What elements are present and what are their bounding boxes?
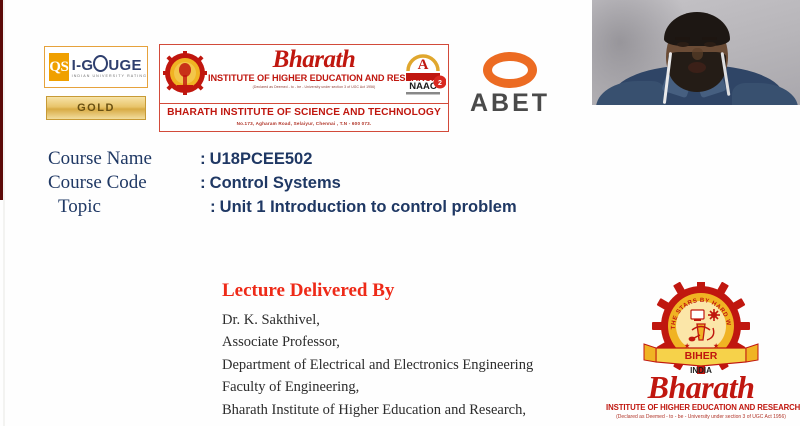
bharath-gear-seal-icon xyxy=(163,51,207,95)
seal-declared-line: (Declared as Deemed - to - be - Universi… xyxy=(606,414,796,420)
topic-label: Topic xyxy=(48,196,210,218)
qs-igauge-name: I-GUGE xyxy=(72,55,147,73)
seal-institute-line: INSTITUTE OF HIGHER EDUCATION AND RESEAR… xyxy=(606,403,796,412)
bharath-script-title: Bharath xyxy=(208,47,420,72)
presenter-mouth xyxy=(688,62,706,73)
qs-gold-ribbon: GOLD xyxy=(46,96,146,120)
course-name-label: Course Name xyxy=(48,148,200,170)
bist-address-line: No.173, Agharam Road, Selaiyur, Chennai … xyxy=(160,121,448,126)
qs-igauge-name-part1: I-G xyxy=(72,57,94,74)
abet-logo: ABET xyxy=(456,52,564,128)
qs-igauge-top: QS I-GUGE INDIAN UNIVERSITY RATING xyxy=(44,46,148,88)
svg-text:NAAC: NAAC xyxy=(409,81,437,92)
presenter-eyebrow-left xyxy=(675,37,690,40)
lecture-delivered-by-heading: Lecture Delivered By xyxy=(222,280,582,302)
course-code-colon: : xyxy=(200,173,206,193)
lecturer-block: Lecture Delivered By Dr. K. Sakthivel, A… xyxy=(222,280,582,426)
course-code-value: Control Systems xyxy=(210,174,341,193)
bist-line: BHARATH INSTITUTE OF SCIENCE AND TECHNOL… xyxy=(160,107,448,118)
qs-igauge-subtitle: INDIAN UNIVERSITY RATING xyxy=(72,75,147,79)
bharath-institute-line: INSTITUTE OF HIGHER EDUCATION AND RESEAR… xyxy=(208,73,420,83)
course-name-value: U18PCEE502 xyxy=(210,150,313,169)
accreditation-logo-band: QS I-GUGE INDIAN UNIVERSITY RATING GOLD xyxy=(44,44,564,132)
qs-igauge-oval-icon xyxy=(93,55,108,72)
presenter-nose xyxy=(692,48,703,60)
bharath-header-bottom: BHARATH INSTITUTE OF SCIENCE AND TECHNOL… xyxy=(160,104,448,126)
naac-accreditation-icon: A NAAC 2 xyxy=(400,49,446,99)
abet-ring-icon xyxy=(483,52,537,88)
bharath-declared-line: (Declared as Deemed - to - be - Universi… xyxy=(208,85,420,89)
lecturer-faculty: Faculty of Engineering, xyxy=(222,376,582,398)
bharath-header-titles: Bharath INSTITUTE OF HIGHER EDUCATION AN… xyxy=(208,47,420,89)
lecturer-city: Chennai 600073 xyxy=(222,421,582,426)
lecturer-institute: Bharath Institute of Higher Education an… xyxy=(222,399,582,421)
presentation-slide: QS I-GUGE INDIAN UNIVERSITY RATING GOLD xyxy=(0,0,800,426)
presenter-eyebrow-right xyxy=(702,37,717,40)
presenter-eye-right xyxy=(704,42,716,47)
bharath-seal-logo: TO THE STARS BY HARD WORK xyxy=(606,282,796,426)
svg-text:A: A xyxy=(418,57,429,73)
seal-script-title: Bharath xyxy=(606,372,796,402)
course-info-block: Course Name : U18PCEE502 Course Code : C… xyxy=(48,148,588,220)
left-edge-strip-secondary xyxy=(3,0,5,426)
qs-igauge-name-part2: UGE xyxy=(108,57,141,74)
bharath-header-top: Bharath INSTITUTE OF HIGHER EDUCATION AN… xyxy=(160,45,448,103)
topic-value: Unit 1 Introduction to control problem xyxy=(220,198,517,217)
svg-text:2: 2 xyxy=(438,80,442,87)
qs-badge: QS xyxy=(49,53,69,81)
course-code-label: Course Code xyxy=(48,172,200,194)
topic-colon: : xyxy=(210,197,216,217)
qs-igauge-wordmark: I-GUGE INDIAN UNIVERSITY RATING xyxy=(72,55,147,79)
course-name-colon: : xyxy=(200,149,206,169)
qs-igauge-logo: QS I-GUGE INDIAN UNIVERSITY RATING GOLD xyxy=(44,46,148,130)
svg-text:BIHER: BIHER xyxy=(685,350,718,362)
lecturer-name: Dr. K. Sakthivel, xyxy=(222,309,582,331)
bharath-header-banner: Bharath INSTITUTE OF HIGHER EDUCATION AN… xyxy=(159,44,449,132)
presenter-eye-left xyxy=(677,42,689,47)
course-info-row: Course Name : U18PCEE502 xyxy=(48,148,588,172)
course-info-row: Course Code : Control Systems xyxy=(48,172,588,196)
course-info-row: Topic : Unit 1 Introduction to control p… xyxy=(48,196,588,220)
lecturer-designation: Associate Professor, xyxy=(222,331,582,353)
biher-gear-seal-icon: TO THE STARS BY HARD WORK xyxy=(626,282,776,374)
presenter-webcam-overlay[interactable] xyxy=(592,0,800,105)
lecturer-department: Department of Electrical and Electronics… xyxy=(222,354,582,376)
abet-wordmark: ABET xyxy=(456,91,564,116)
